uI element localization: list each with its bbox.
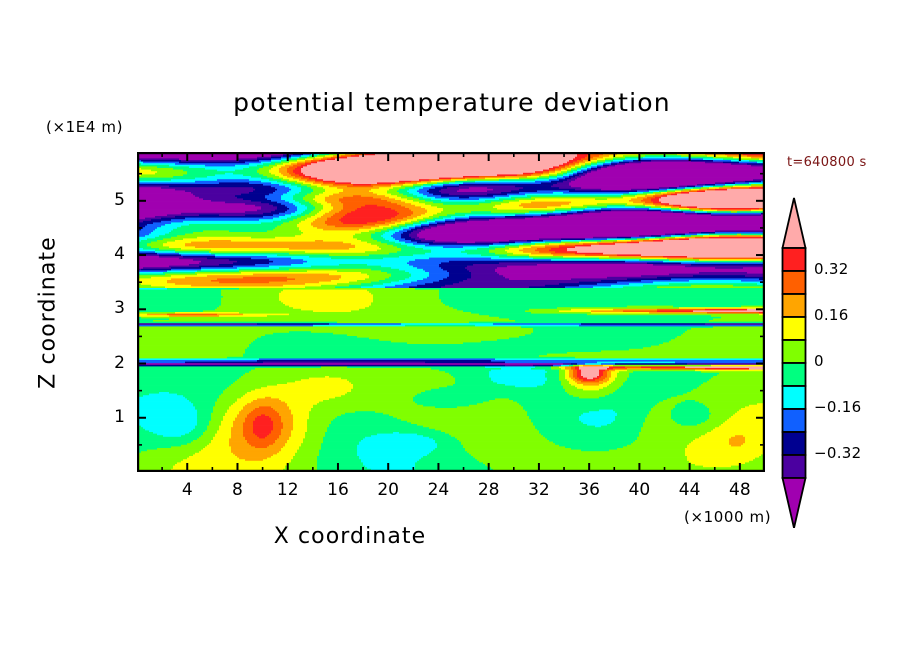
x-tick-label: 4: [167, 480, 207, 500]
x-tick-label: 16: [318, 480, 358, 500]
colorbar-tick-label: 0.16: [814, 306, 849, 324]
y-tick-label: 4: [95, 244, 125, 264]
x-tick-label: 28: [469, 480, 509, 500]
colorbar-tick-label: −0.16: [814, 398, 861, 416]
y-tick-label: 1: [95, 407, 125, 427]
x-tick-label: 8: [217, 480, 257, 500]
colorbar: [779, 196, 809, 528]
x-tick-label: 36: [569, 480, 609, 500]
chart-title: potential temperature deviation: [0, 88, 904, 117]
y-tick-label: 5: [95, 190, 125, 210]
y-tick-label: 2: [95, 353, 125, 373]
x-tick-label: 44: [670, 480, 710, 500]
contour-plot: [137, 152, 765, 472]
colorbar-tick-label: 0.32: [814, 260, 849, 278]
x-tick-label: 48: [720, 480, 760, 500]
x-tick-label: 20: [368, 480, 408, 500]
x-tick-label: 24: [418, 480, 458, 500]
y-tick-label: 3: [95, 298, 125, 318]
y-axis-unit: (×1E4 m): [46, 118, 123, 136]
x-tick-label: 12: [268, 480, 308, 500]
x-tick-label: 32: [519, 480, 559, 500]
colorbar-tick-label: −0.32: [814, 444, 861, 462]
x-tick-label: 40: [619, 480, 659, 500]
x-axis-label: X coordinate: [0, 524, 700, 549]
timestamp-annotation: t=640800 s: [787, 155, 867, 170]
y-axis-label: Z coordinate: [36, 203, 61, 423]
colorbar-tick-label: 0: [814, 352, 824, 370]
